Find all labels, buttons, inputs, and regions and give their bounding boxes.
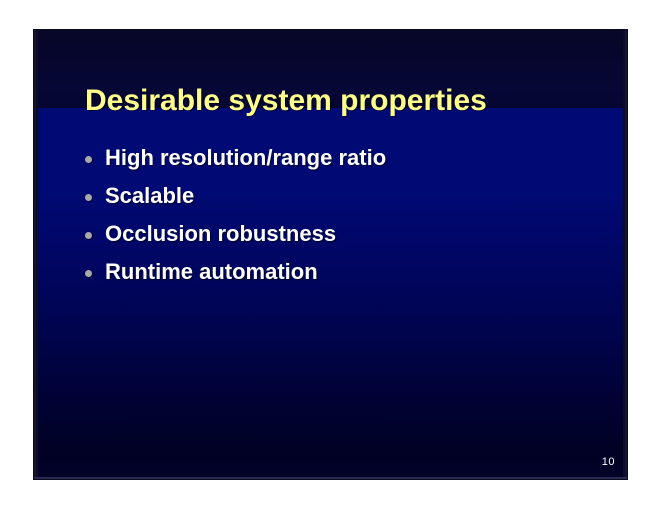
page-canvas: Desirable system properties High resolut…: [0, 0, 660, 510]
list-item-label: Occlusion robustness: [105, 220, 605, 248]
list-item: High resolution/range ratio: [85, 144, 605, 182]
disc-bullet-icon: [85, 194, 92, 201]
page-title: Desirable system properties: [85, 84, 487, 118]
list-item: Scalable: [85, 182, 605, 220]
presentation-slide: Desirable system properties High resolut…: [33, 29, 628, 480]
list-item-label: Scalable: [105, 182, 605, 210]
slide-right-edge-band: [623, 29, 628, 480]
disc-bullet-icon: [85, 232, 92, 239]
list-item-label: Runtime automation: [105, 258, 605, 286]
list-item-label: High resolution/range ratio: [105, 144, 605, 172]
slide-left-edge-band: [33, 29, 38, 480]
slide-bottom-strip: [33, 477, 628, 480]
list-item: Runtime automation: [85, 258, 605, 296]
disc-bullet-icon: [85, 270, 92, 277]
list-item: Occlusion robustness: [85, 220, 605, 258]
disc-bullet-icon: [85, 156, 92, 163]
bullet-list: High resolution/range ratio Scalable Occ…: [85, 144, 605, 296]
slide-page-number: 10: [602, 456, 615, 468]
